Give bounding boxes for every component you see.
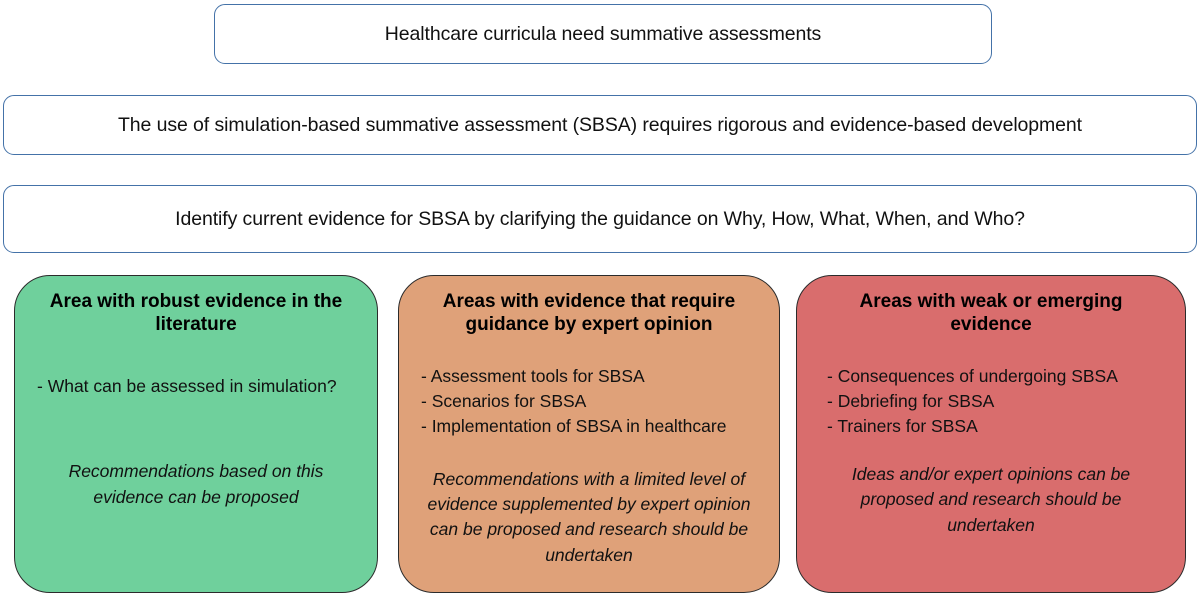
- statement-box-aim: Identify current evidence for SBSA by cl…: [3, 185, 1197, 253]
- statement-text-rationale: The use of simulation-based summative as…: [118, 113, 1082, 137]
- statement-box-premise: Healthcare curricula need summative asse…: [214, 4, 992, 64]
- list-item: - Consequences of undergoing SBSA: [827, 364, 1169, 389]
- panel-item-list-expert-opinion: - Assessment tools for SBSA - Scenarios …: [415, 364, 763, 439]
- evidence-panel-weak-emerging: Areas with weak or emerging evidence - C…: [796, 275, 1186, 593]
- list-item: - Debriefing for SBSA: [827, 389, 1169, 414]
- diagram-canvas: { "statements": [ { "id": "premise", "te…: [0, 0, 1200, 601]
- statement-text-aim: Identify current evidence for SBSA by cl…: [175, 207, 1025, 231]
- panel-title-expert-opinion: Areas with evidence that require guidanc…: [415, 290, 763, 336]
- statement-box-rationale: The use of simulation-based summative as…: [3, 95, 1197, 155]
- panel-footer-weak-emerging: Ideas and/or expert opinions can be prop…: [813, 462, 1169, 538]
- statement-text-premise: Healthcare curricula need summative asse…: [385, 22, 821, 46]
- list-item: - Assessment tools for SBSA: [421, 364, 763, 389]
- panel-item-list-robust: - What can be assessed in simulation?: [31, 374, 361, 399]
- panel-item-list-weak-emerging: - Consequences of undergoing SBSA - Debr…: [813, 364, 1169, 439]
- panel-footer-robust: Recommendations based on this evidence c…: [31, 459, 361, 510]
- panel-title-robust: Area with robust evidence in the literat…: [31, 290, 361, 336]
- list-item: - Trainers for SBSA: [827, 414, 1169, 439]
- evidence-panel-robust: Area with robust evidence in the literat…: [14, 275, 378, 593]
- evidence-panel-expert-opinion: Areas with evidence that require guidanc…: [398, 275, 780, 593]
- list-item: - What can be assessed in simulation?: [37, 374, 361, 399]
- panel-footer-expert-opinion: Recommendations with a limited level of …: [415, 467, 763, 569]
- panel-title-weak-emerging: Areas with weak or emerging evidence: [813, 290, 1169, 336]
- list-item: - Scenarios for SBSA: [421, 389, 763, 414]
- list-item: - Implementation of SBSA in healthcare: [421, 414, 763, 439]
